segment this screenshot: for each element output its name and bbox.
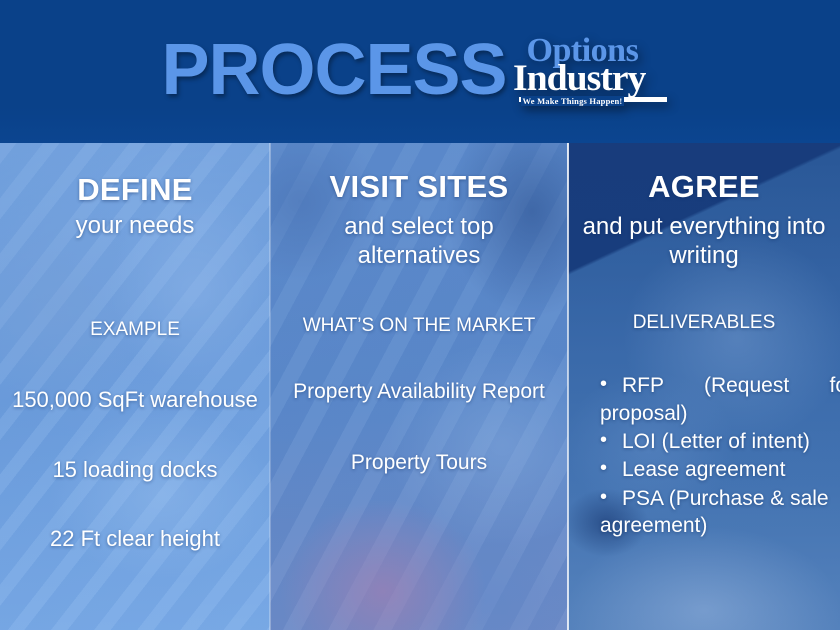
deliverables-list-item: RFP (Request for proposal) [600,372,840,427]
column-define-item-3: 22 Ft clear height [0,525,270,553]
deliverables-item-4-line-1: PSA (Purchase & sale [622,487,829,510]
column-visit-sites-label: WHAT’S ON THE MARKET [270,314,568,338]
column-agree-content: AGREE and put everything into writing DE… [568,143,840,630]
column-visit-sites-item-1: Property Availability Report [270,379,568,406]
column-define-item-1: 150,000 SqFt warehouse [0,386,270,414]
column-visit-sites-content: VISIT SITES and select top alternatives … [270,143,568,630]
deliverables-item-3-text: Lease agreement [622,458,785,481]
deliverables-list-item: Lease agreement [600,456,840,483]
deliverables-list-item: PSA (Purchase & sale agreement) [600,485,840,540]
column-agree-heading: AGREE [568,170,840,204]
column-define-item-2: 15 loading docks [0,456,270,484]
column-define-heading: DEFINE [0,173,270,207]
column-visit-sites-subheading: and select top alternatives [270,212,568,271]
deliverables-item-1-line-1: RFP (Request for [622,372,840,399]
column-agree: AGREE and put everything into writing DE… [568,143,840,630]
page-title: PROCESS [161,34,506,106]
logo-tagline: We Make Things Happen! [521,96,625,106]
column-visit-sites-heading: VISIT SITES [270,170,568,204]
slide-header: PROCESS Options Industry We Make Things … [0,0,840,143]
options-industry-logo: Options Industry We Make Things Happen! [513,34,679,112]
column-define-label: EXAMPLE [0,318,270,342]
deliverables-item-2-text: LOI (Letter of intent) [622,430,810,453]
column-visit-sites-item-2: Property Tours [270,450,568,476]
column-agree-label: DELIVERABLES [568,311,840,335]
deliverables-item-1-line-2: proposal) [600,400,840,427]
logo-word-industry: Industry [513,60,682,97]
column-divider-2 [567,143,569,630]
logo-industry-block: Industry [513,60,679,97]
process-columns: DEFINE your needs EXAMPLE 150,000 SqFt w… [0,143,840,630]
column-divider-1 [269,143,271,630]
column-define: DEFINE your needs EXAMPLE 150,000 SqFt w… [0,143,270,630]
deliverables-list: RFP (Request for proposal) LOI (Letter o… [568,372,840,539]
slide-canvas: PROCESS Options Industry We Make Things … [0,0,840,630]
column-visit-sites: VISIT SITES and select top alternatives … [270,143,568,630]
column-define-subheading: your needs [0,211,270,240]
deliverables-item-4-line-2: agreement) [600,512,840,539]
column-agree-subheading: and put everything into writing [568,212,840,271]
deliverables-list-item: LOI (Letter of intent) [600,428,840,455]
header-inner: PROCESS Options Industry We Make Things … [0,0,840,143]
column-define-content: DEFINE your needs EXAMPLE 150,000 SqFt w… [0,143,270,630]
